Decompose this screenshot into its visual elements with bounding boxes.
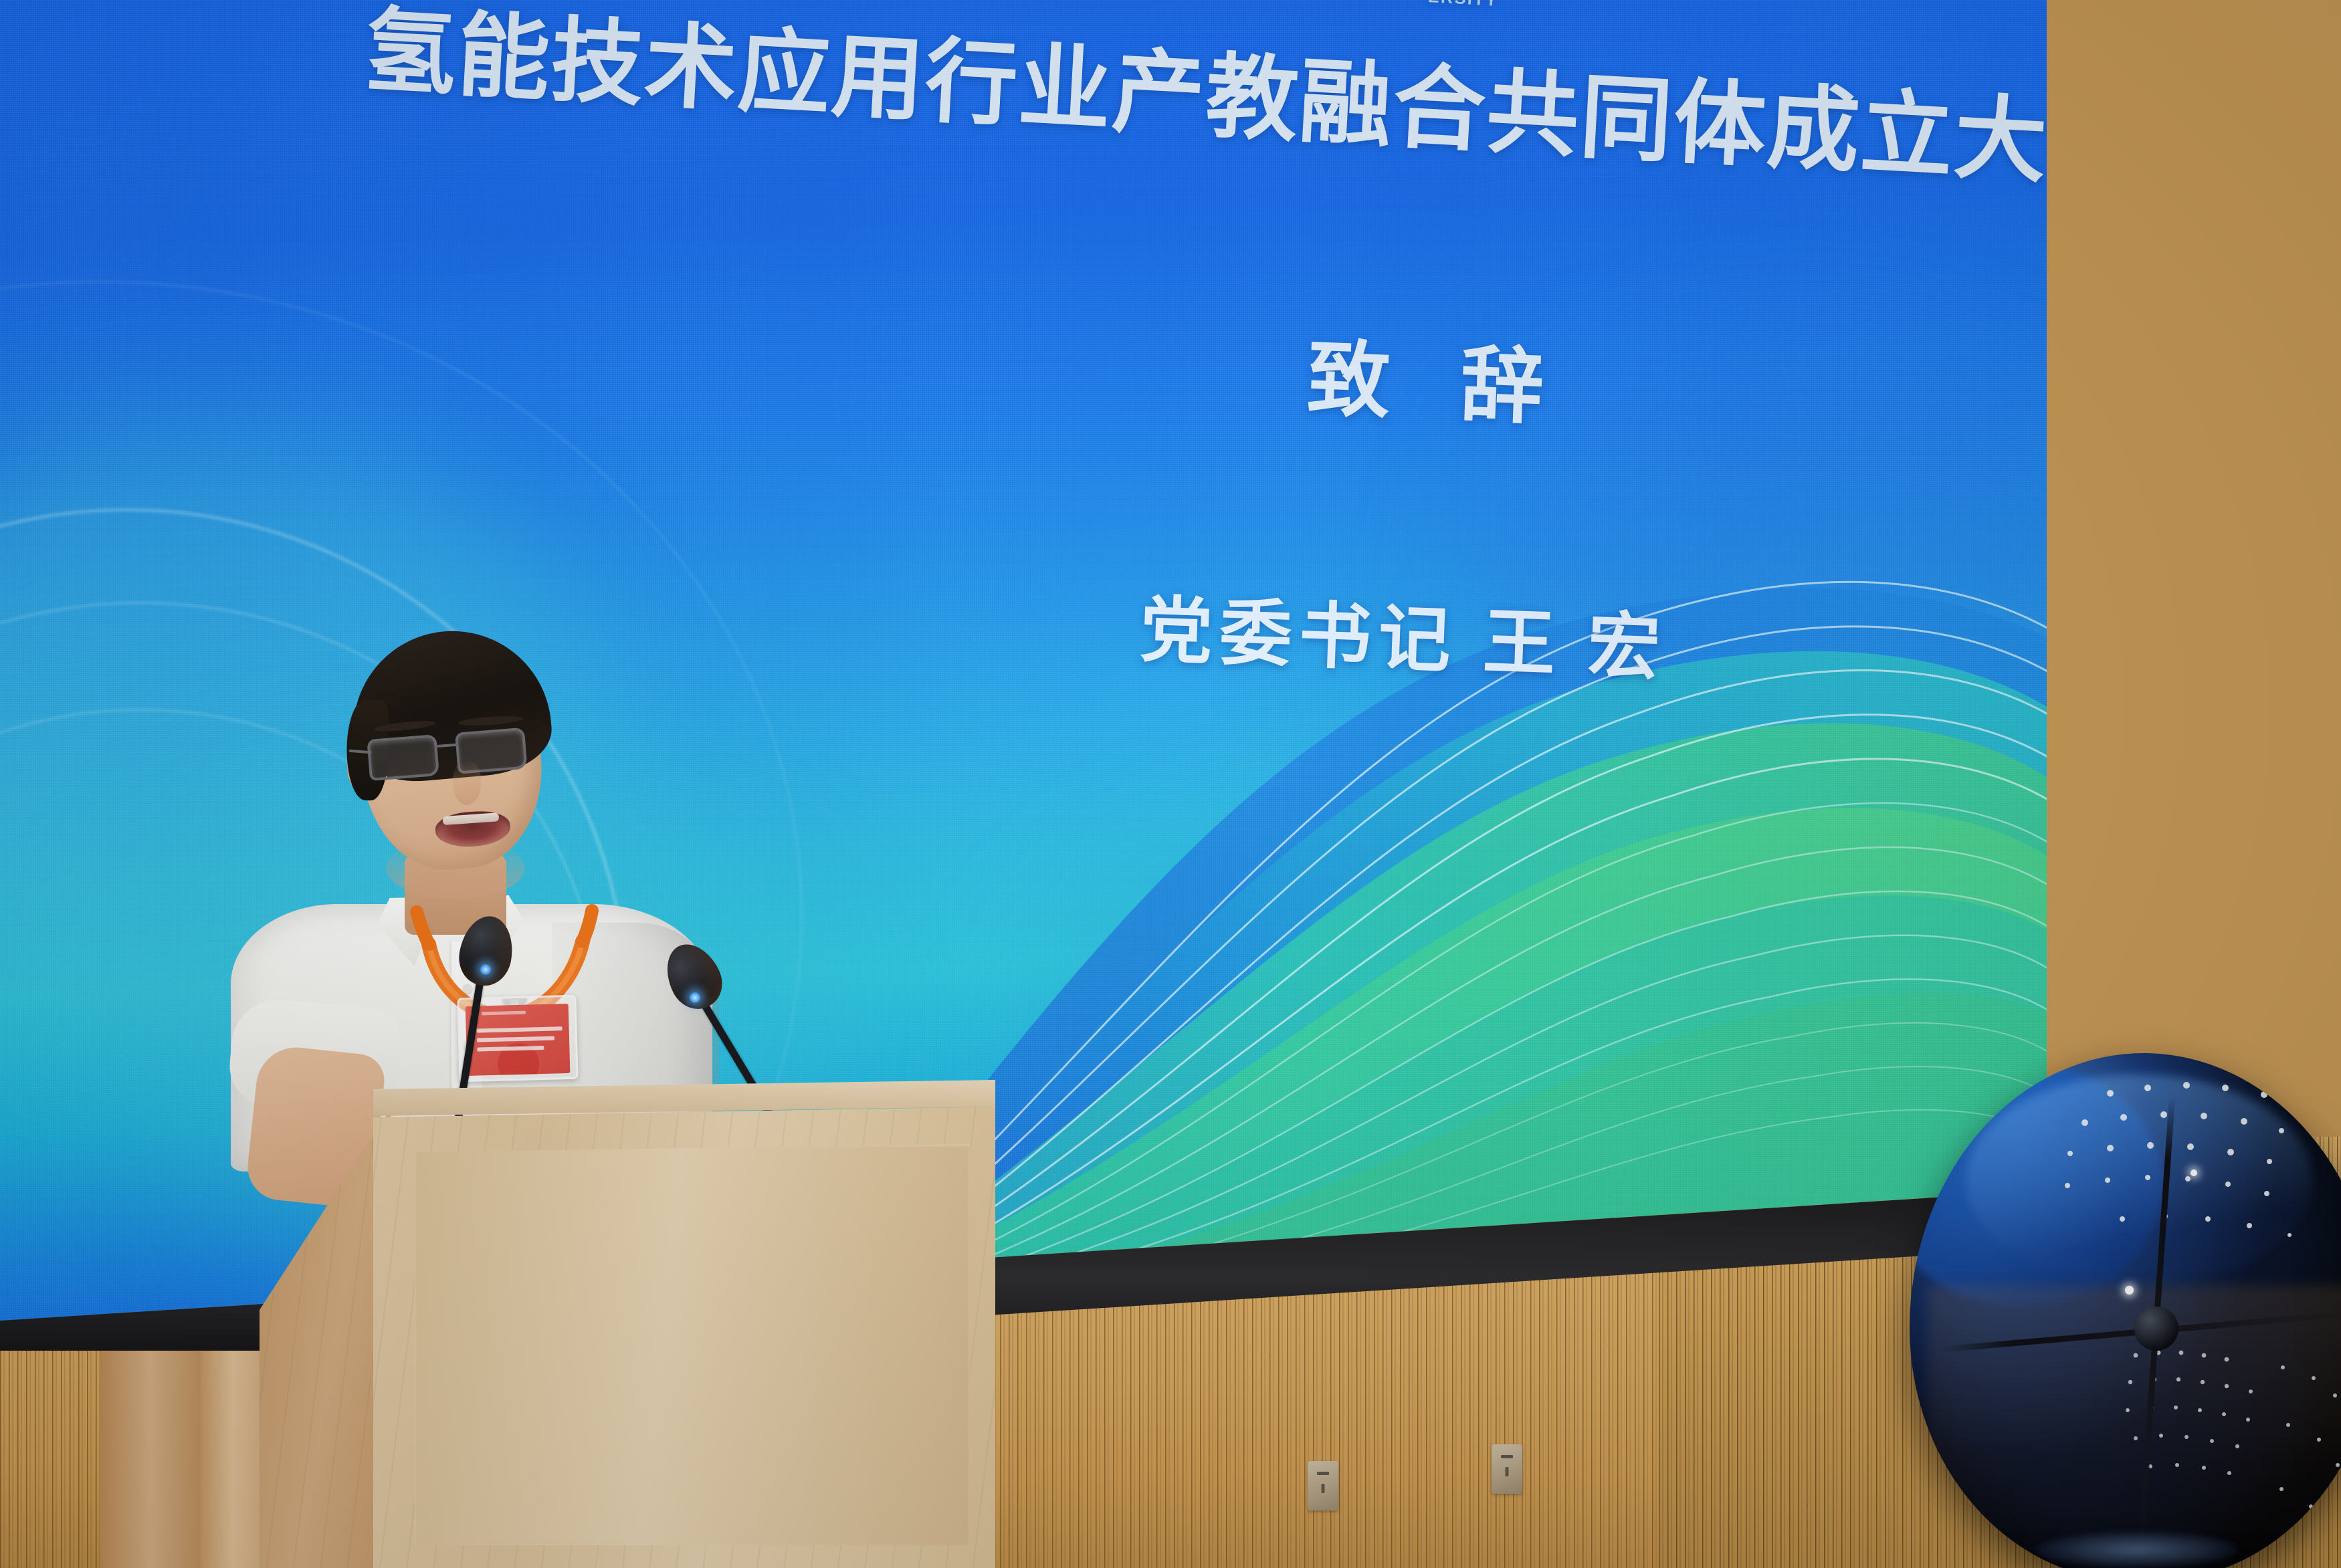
microphone-led-indicator xyxy=(480,964,491,975)
glasses-lens-left xyxy=(367,734,439,781)
wall-outlet-center xyxy=(1308,1461,1338,1510)
conference-photo-scene: ERSITY 氢能技术应用行业产教融合共同体成立大会 致 辞 党委书记 王 宏 xyxy=(0,0,2341,1568)
podium-front-inset xyxy=(415,1144,970,1545)
holographic-fan-sphere xyxy=(1910,1053,2341,1568)
sphere-fan-hub xyxy=(2134,1307,2178,1351)
podium-wood-grain xyxy=(260,1109,391,1568)
glasses-bridge xyxy=(437,744,457,748)
outlet-slot-lower xyxy=(1506,1467,1509,1476)
podium-side-panel xyxy=(260,1109,391,1568)
outlet-slot-upper xyxy=(1317,1472,1329,1475)
outlet-slot-lower xyxy=(1322,1484,1325,1493)
microphone-led-indicator xyxy=(690,992,700,1003)
speaker-teeth xyxy=(443,812,500,825)
outlet-slot-upper xyxy=(1501,1455,1513,1458)
sphere-gloss-highlight xyxy=(1966,1075,2312,1286)
microphone-head xyxy=(455,912,518,990)
sphere-specular-highlight xyxy=(2125,1286,2134,1295)
speaker-nose xyxy=(453,761,481,805)
speaker-chin-shading xyxy=(386,837,525,899)
event-title: 氢能技术应用行业产教融合共同体成立大会 xyxy=(361,0,2047,206)
screen-light-strands xyxy=(836,468,2047,1321)
microphone-head xyxy=(656,935,731,1017)
speaking-podium xyxy=(260,1080,995,1568)
sphere-base-glow xyxy=(2037,1531,2237,1568)
wall-outlet-right xyxy=(1492,1444,1522,1494)
event-subtitle: 致 辞 xyxy=(1306,311,1571,441)
sphere-specular-highlight xyxy=(2191,1169,2197,1176)
clipped-university-text: ERSITY xyxy=(1427,0,1499,11)
